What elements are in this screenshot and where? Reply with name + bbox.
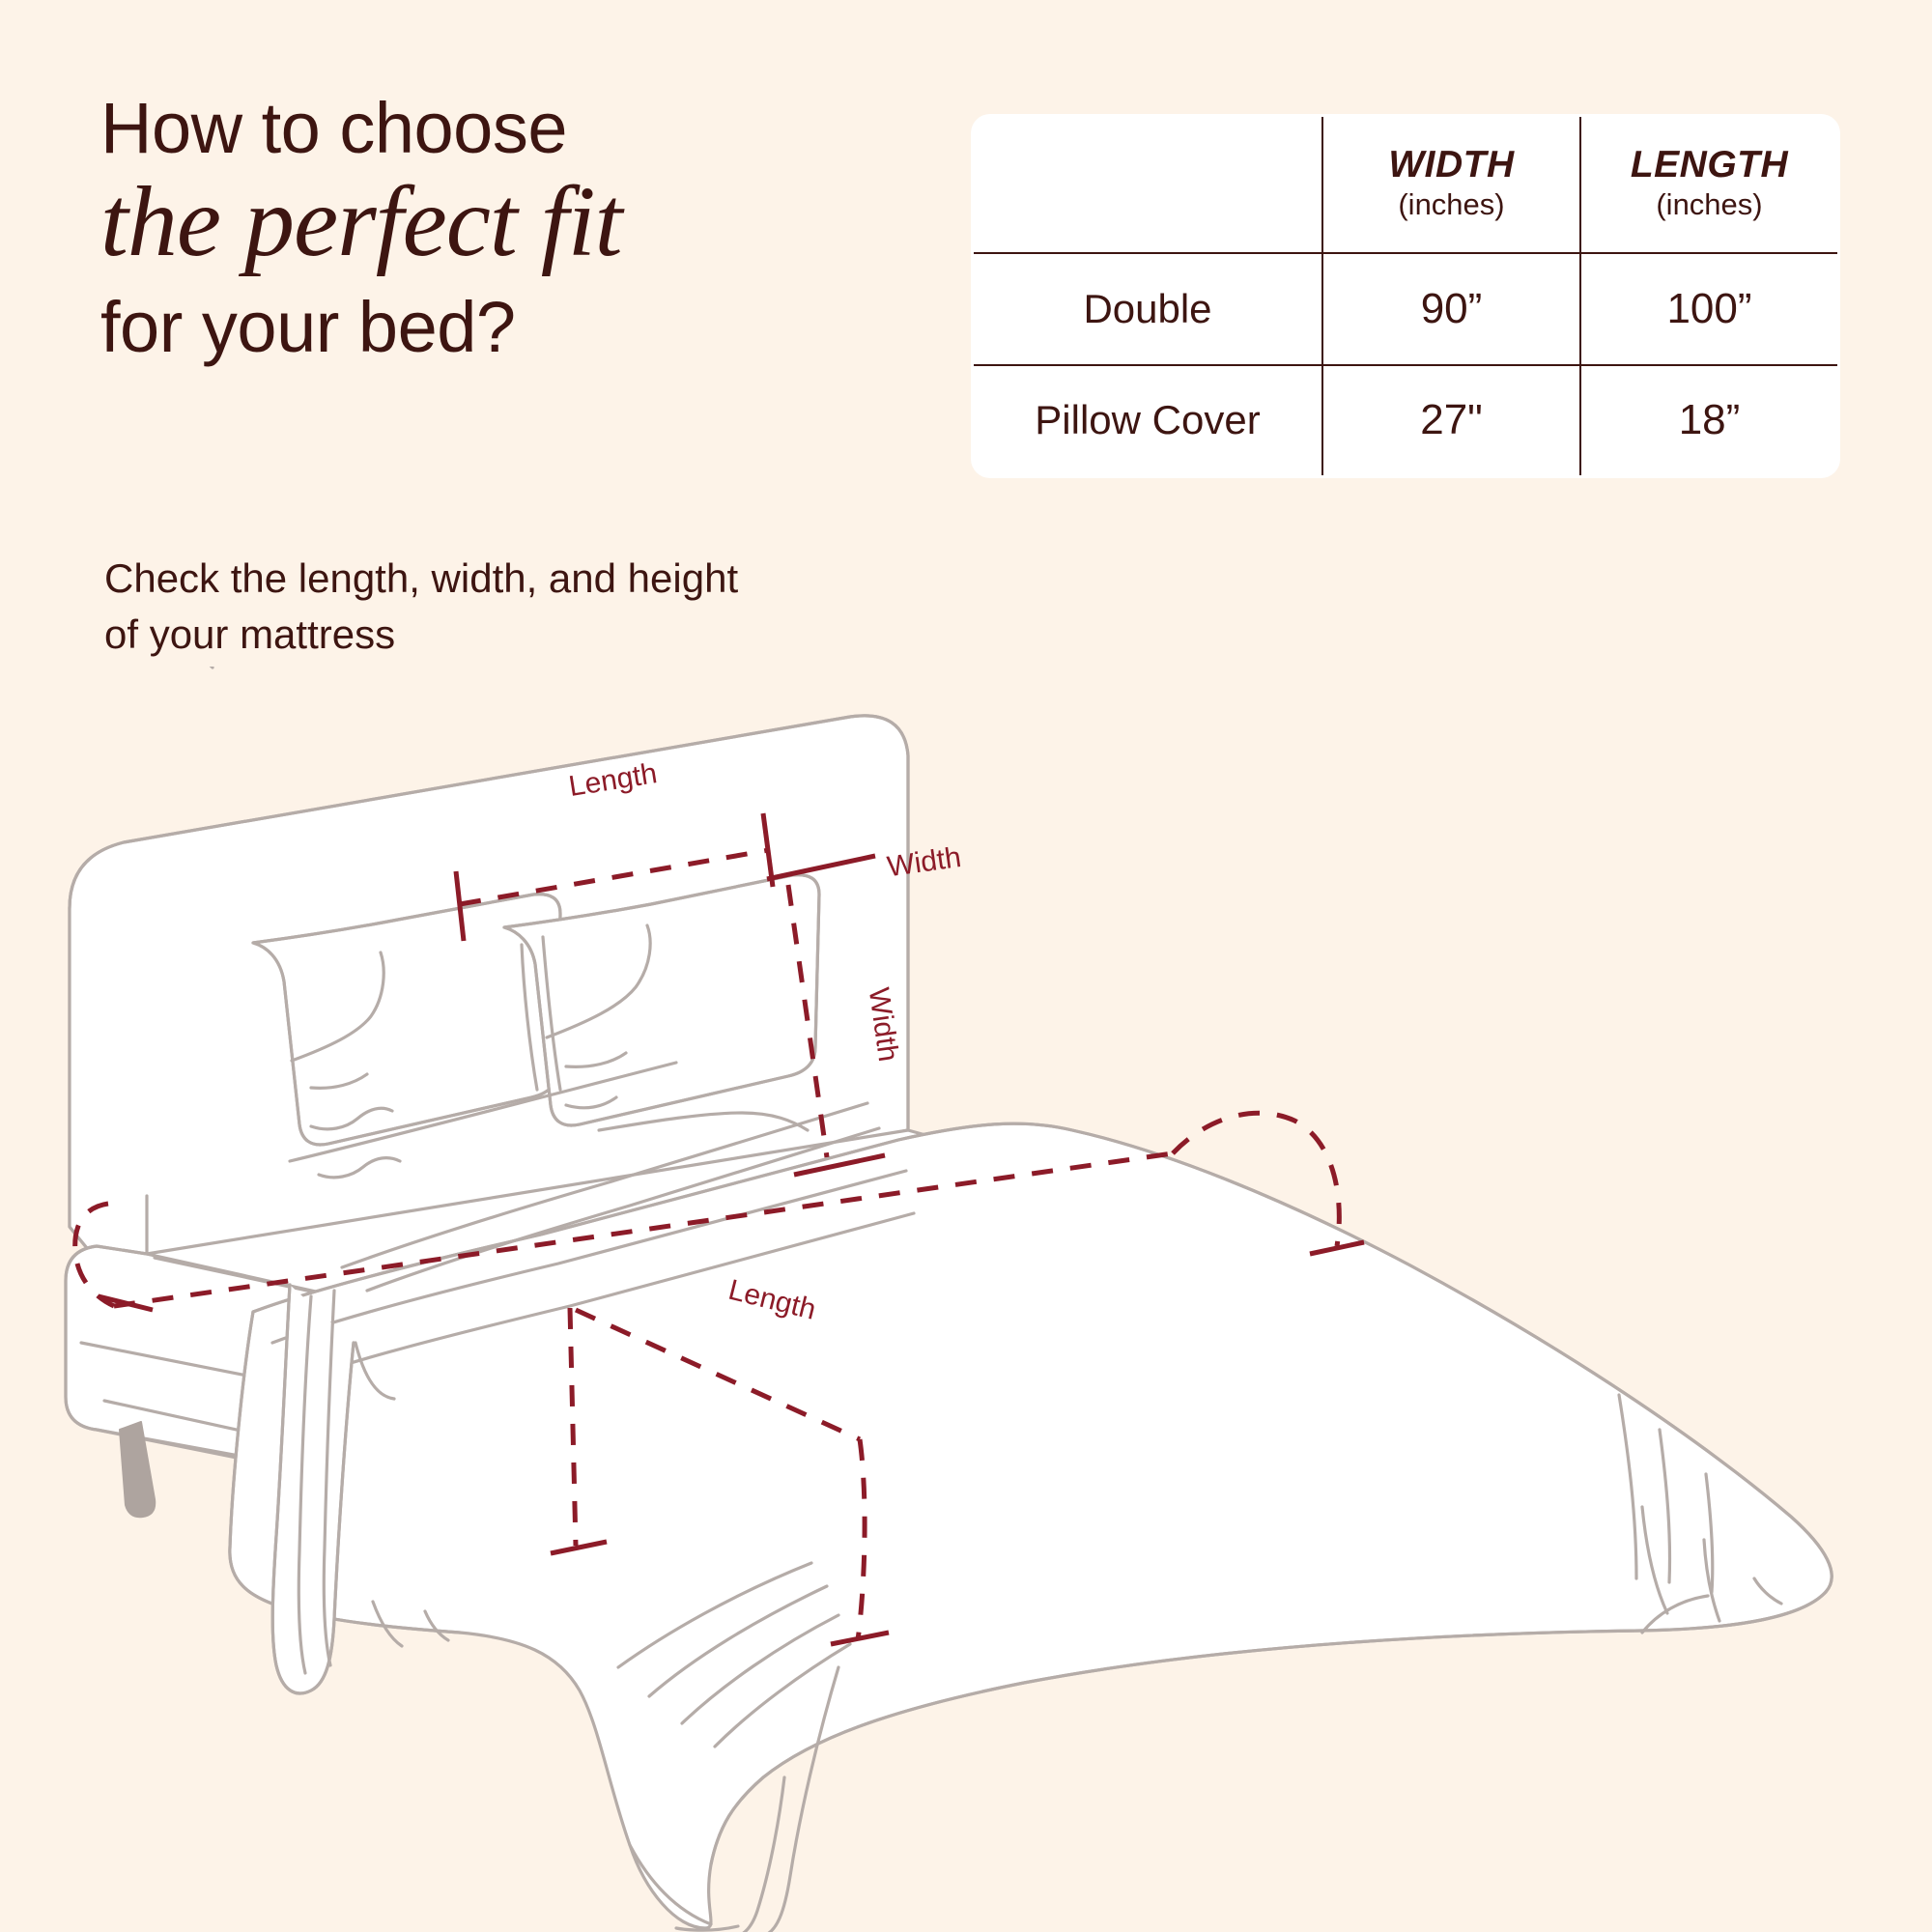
cell-pillow-width: 27" (1322, 365, 1580, 477)
table-header-length: LENGTH (inches) (1580, 116, 1839, 253)
table-header-length-label: LENGTH (1581, 145, 1837, 186)
table-header-width-label: WIDTH (1323, 145, 1579, 186)
row-label-pillow-cover: Pillow Cover (973, 365, 1323, 477)
subtitle-text: Check the length, width, and height of y… (104, 551, 781, 663)
infographic-page: How to choose the perfect fit for your b… (0, 0, 1932, 1932)
cell-double-width: 90” (1322, 253, 1580, 365)
table-header-width-unit: (inches) (1323, 186, 1579, 224)
cell-pillow-length: 18” (1580, 365, 1839, 477)
bed-illustration: Length Width Width Length (0, 667, 1932, 1932)
table-header-row: WIDTH (inches) LENGTH (inches) (973, 116, 1839, 253)
page-title: How to choose the perfect fit for your b… (100, 93, 893, 363)
headline-line-3: for your bed? (100, 292, 893, 363)
size-chart-table: WIDTH (inches) LENGTH (inches) Double 90… (971, 114, 1831, 476)
headline-line-1: How to choose (100, 93, 893, 164)
table-header-blank (973, 116, 1323, 253)
row-label-double: Double (973, 253, 1323, 365)
cell-double-length: 100” (1580, 253, 1839, 365)
table-header-width: WIDTH (inches) (1322, 116, 1580, 253)
table-header-length-unit: (inches) (1581, 186, 1837, 224)
table-row: Double 90” 100” (973, 253, 1839, 365)
table-row: Pillow Cover 27" 18” (973, 365, 1839, 477)
headline-line-2-emphasis: the perfect fit (100, 166, 893, 278)
